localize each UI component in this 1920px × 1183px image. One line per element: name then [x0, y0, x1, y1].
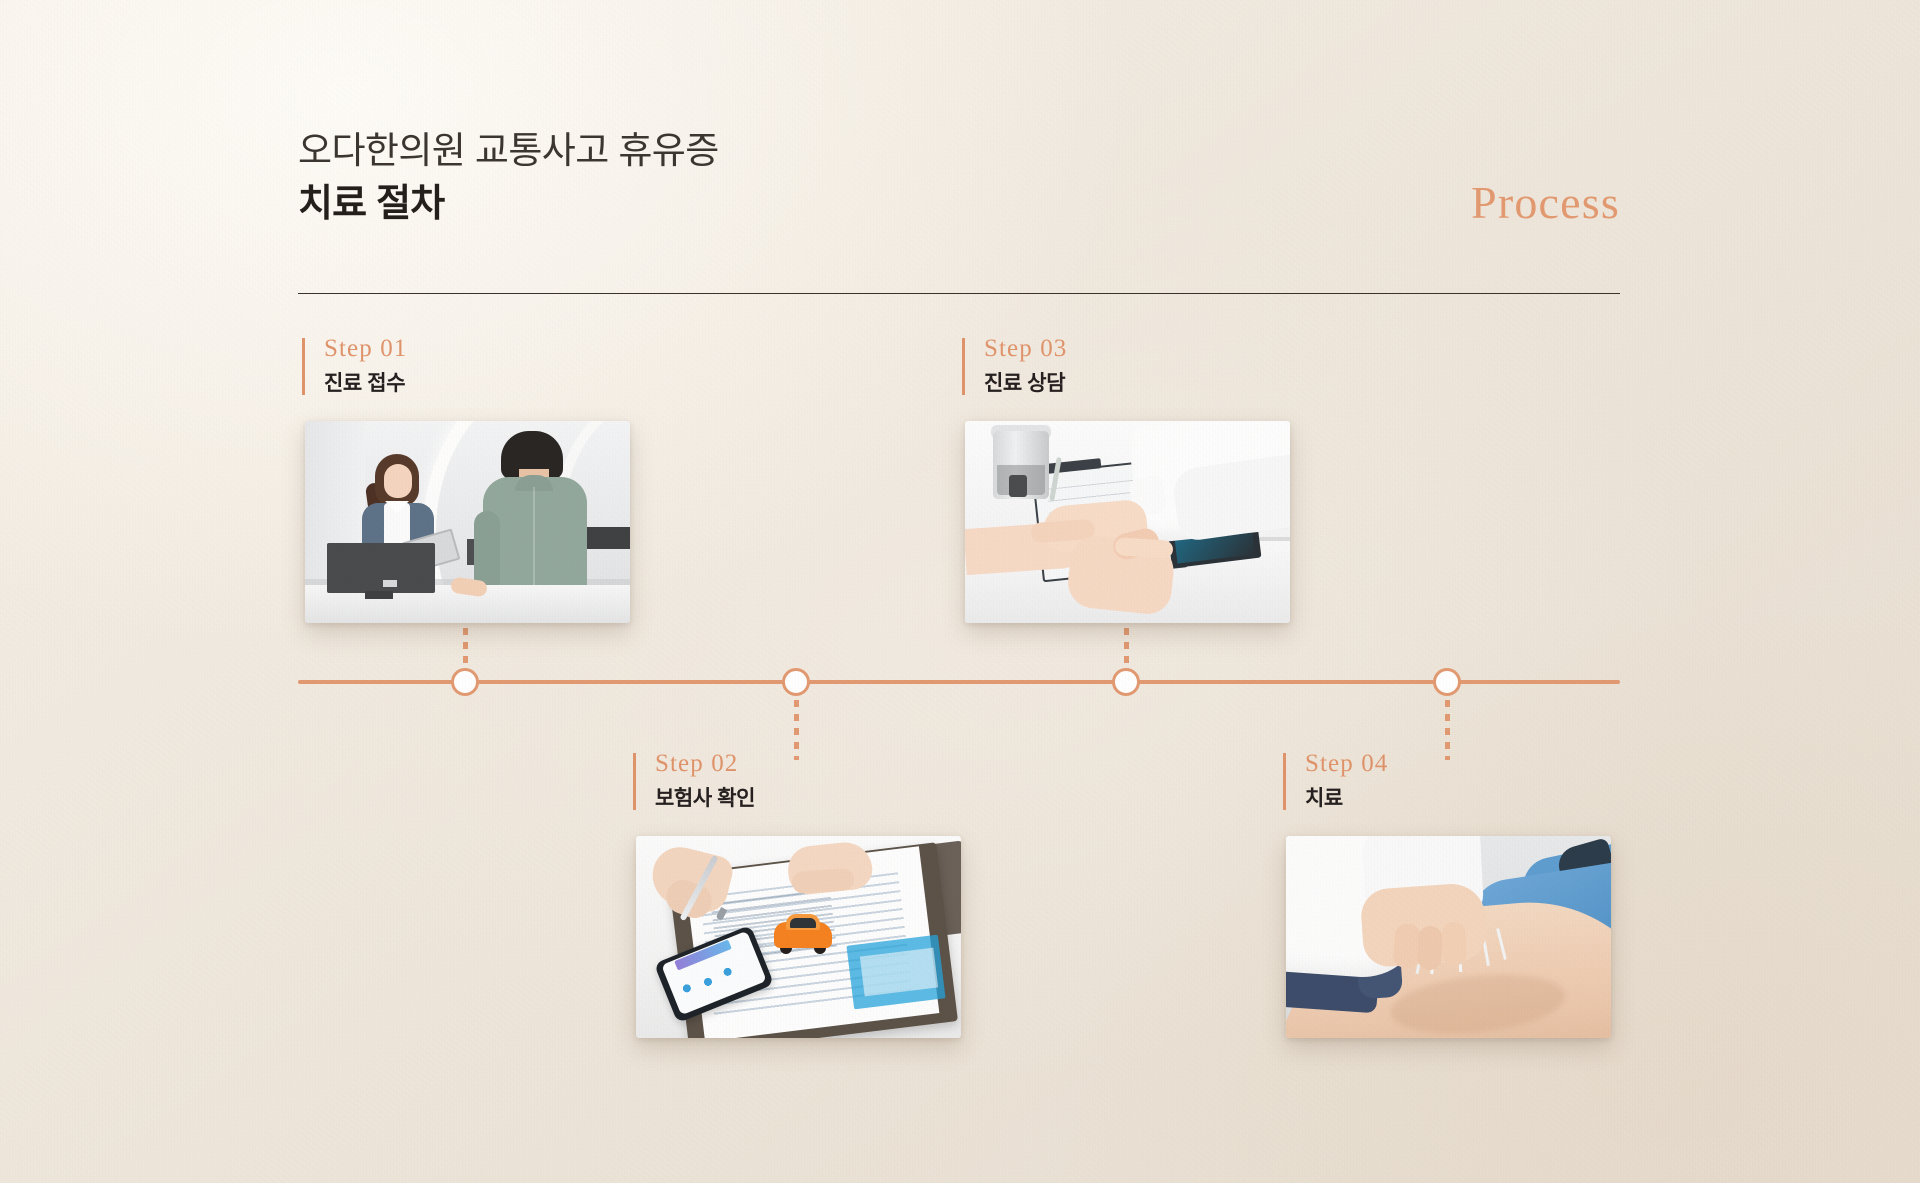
step-accent-bar-icon [1283, 753, 1286, 810]
timeline-connector-2 [794, 700, 799, 760]
step-item-4[interactable]: Step 04 치료 [1283, 750, 1388, 811]
timeline-node-1[interactable] [451, 668, 479, 696]
timeline-node-2[interactable] [782, 668, 810, 696]
step-1-number: Step 01 [324, 335, 407, 363]
header-divider [298, 293, 1620, 294]
step-item-2[interactable]: Step 02 보험사 확인 [633, 750, 755, 811]
step-2-number: Step 02 [655, 750, 755, 778]
step-3-name: 진료 상담 [984, 372, 1067, 396]
timeline-rail [298, 680, 1620, 684]
step-4-name: 치료 [1305, 787, 1388, 811]
step-accent-bar-icon [633, 753, 636, 810]
timeline-connector-3 [1124, 628, 1129, 668]
section-label-process: Process [1471, 176, 1620, 229]
step-1-heading: Step 01 진료 접수 [302, 335, 407, 396]
step-accent-bar-icon [302, 338, 305, 395]
timeline-node-4[interactable] [1433, 668, 1461, 696]
step-1-name: 진료 접수 [324, 372, 407, 396]
page-title: 치료 절차 [298, 181, 1620, 227]
process-slide: 오다한의원 교통사고 휴유증 치료 절차 Process Step 01 진료 … [0, 0, 1920, 1183]
step-3-photo[interactable] [965, 421, 1290, 623]
step-4-heading: Step 04 치료 [1283, 750, 1388, 811]
timeline-connector-1 [463, 628, 468, 668]
step-2-name: 보험사 확인 [655, 787, 755, 811]
step-4-photo[interactable] [1286, 836, 1611, 1038]
step-1-photo[interactable] [305, 421, 630, 623]
step-4-number: Step 04 [1305, 750, 1388, 778]
step-2-heading: Step 02 보험사 확인 [633, 750, 755, 811]
timeline-node-3[interactable] [1112, 668, 1140, 696]
step-item-3[interactable]: Step 03 진료 상담 [962, 335, 1067, 396]
step-item-1[interactable]: Step 01 진료 접수 [302, 335, 407, 396]
timeline-connector-4 [1445, 700, 1450, 760]
header-eyebrow: 오다한의원 교통사고 휴유증 [298, 128, 1620, 173]
step-3-number: Step 03 [984, 335, 1067, 363]
step-2-photo[interactable] [636, 836, 961, 1038]
page-header: 오다한의원 교통사고 휴유증 치료 절차 Process [298, 128, 1620, 227]
step-3-heading: Step 03 진료 상담 [962, 335, 1067, 396]
step-accent-bar-icon [962, 338, 965, 395]
